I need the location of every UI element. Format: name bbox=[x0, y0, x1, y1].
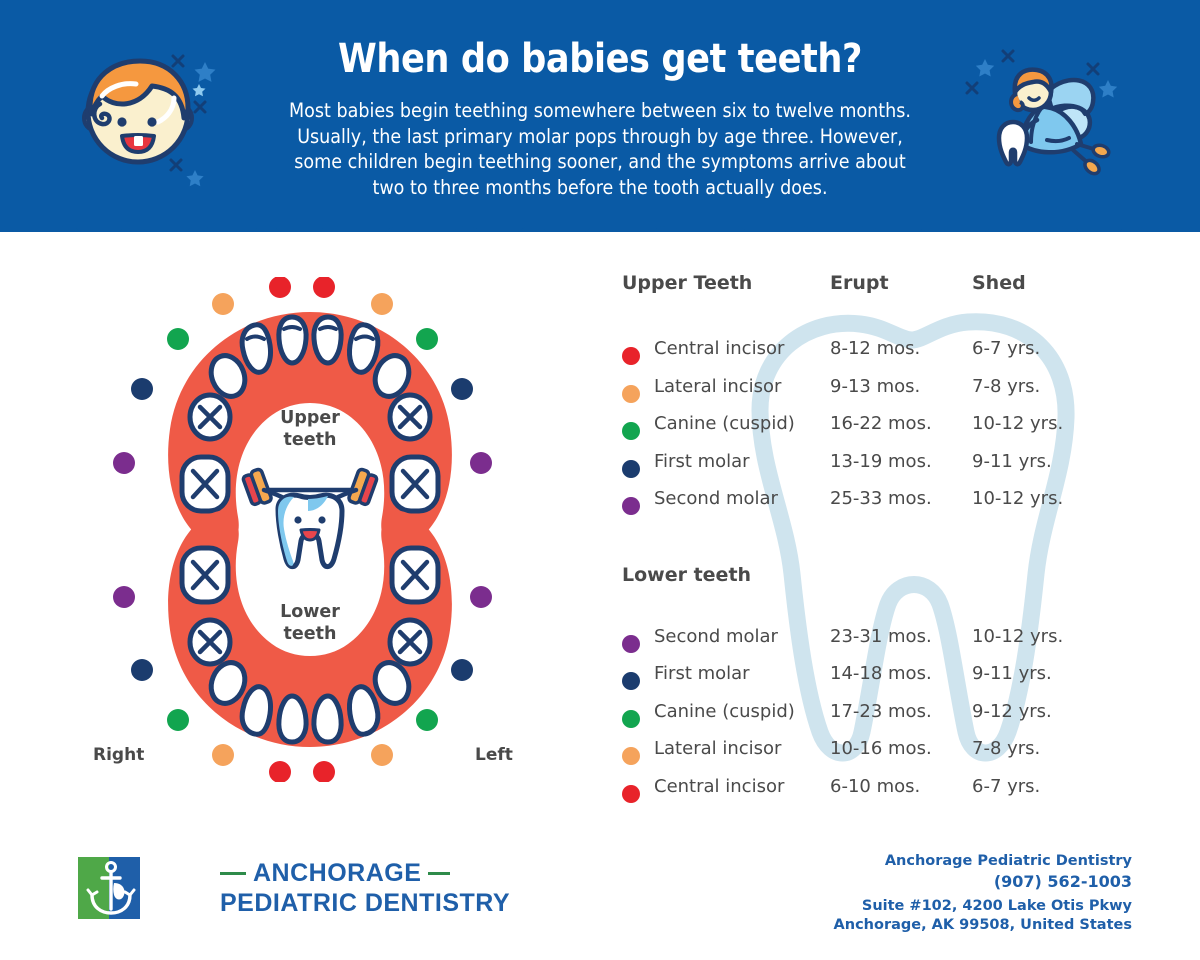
row-color-dot bbox=[622, 497, 640, 515]
lower-label-line1: Lower bbox=[250, 601, 370, 623]
dot-lower-canine-right bbox=[167, 709, 189, 731]
contact-address: Suite #102, 4200 Lake Otis Pkwy Anchorag… bbox=[712, 897, 1132, 935]
tooth-lower-lateral-left bbox=[349, 687, 377, 735]
contact-address-line2: Anchorage, AK 99508, United States bbox=[712, 916, 1132, 935]
logo-rule-right bbox=[428, 872, 450, 875]
table-row: First molar 14-18 mos. 9-11 yrs. bbox=[618, 663, 1178, 701]
contact-block: Anchorage Pediatric Dentistry (907) 562-… bbox=[712, 852, 1132, 935]
dot-lower-second-molar-right bbox=[113, 586, 135, 608]
upper-label-line2: teeth bbox=[250, 429, 370, 451]
tooth-name: Second molar bbox=[654, 488, 778, 509]
dot-lower-central-left bbox=[313, 761, 335, 782]
row-color-dot bbox=[622, 710, 640, 728]
infographic-page: When do babies get teeth? Most babies be… bbox=[0, 0, 1200, 960]
erupt-value: 25-33 mos. bbox=[830, 488, 932, 509]
row-color-dot bbox=[622, 347, 640, 365]
dot-upper-second-molar-right bbox=[113, 452, 135, 474]
tooth-upper-lateral-right bbox=[242, 325, 270, 373]
tooth-name: Central incisor bbox=[654, 338, 784, 359]
row-color-dot bbox=[622, 422, 640, 440]
dot-upper-lateral-right bbox=[212, 293, 234, 315]
table-row: Second molar 23-31 mos. 10-12 yrs. bbox=[618, 626, 1178, 664]
upper-label-line1: Upper bbox=[250, 407, 370, 429]
erupt-value: 16-22 mos. bbox=[830, 413, 932, 434]
tooth-name: First molar bbox=[654, 663, 750, 684]
dot-upper-second-molar-left bbox=[470, 452, 492, 474]
erupt-value: 13-19 mos. bbox=[830, 451, 932, 472]
shed-value: 10-12 yrs. bbox=[972, 488, 1063, 509]
dot-upper-first-molar-right bbox=[131, 378, 153, 400]
table-row: Second molar 25-33 mos. 10-12 yrs. bbox=[618, 488, 1178, 526]
eruption-table: Upper Teeth Erupt Shed Central incisor 8… bbox=[618, 272, 1178, 832]
table-row: First molar 13-19 mos. 9-11 yrs. bbox=[618, 451, 1178, 489]
shed-value: 10-12 yrs. bbox=[972, 626, 1063, 647]
logo-rule-left bbox=[220, 872, 246, 875]
dot-lower-first-molar-right bbox=[131, 659, 153, 681]
table-row: Lateral incisor 10-16 mos. 7-8 yrs. bbox=[618, 738, 1178, 776]
header-banner: When do babies get teeth? Most babies be… bbox=[0, 0, 1200, 232]
anchor-tooth-logo-icon bbox=[78, 857, 140, 919]
dot-lower-second-molar-left bbox=[470, 586, 492, 608]
subtitle-line: some children begin teething sooner, and… bbox=[276, 149, 924, 175]
shed-column-header: Shed bbox=[972, 272, 1026, 294]
tooth-lower-central-left bbox=[314, 696, 341, 742]
tooth-name: Lateral incisor bbox=[654, 376, 781, 397]
smiling-tooth-mascot-icon bbox=[242, 468, 379, 566]
table-row: Central incisor 6-10 mos. 6-7 yrs. bbox=[618, 776, 1178, 814]
table-header-lower: Lower teeth bbox=[618, 564, 1178, 604]
shed-value: 6-7 yrs. bbox=[972, 776, 1040, 797]
upper-teeth-label: Upper teeth bbox=[250, 407, 370, 451]
tooth-upper-central-left bbox=[314, 317, 341, 363]
row-color-dot bbox=[622, 672, 640, 690]
shed-value: 9-12 yrs. bbox=[972, 701, 1052, 722]
lower-teeth-header: Lower teeth bbox=[622, 564, 751, 586]
subtitle-line: two to three months before the tooth act… bbox=[276, 175, 924, 201]
table-row: Canine (cuspid) 16-22 mos. 10-12 yrs. bbox=[618, 413, 1178, 451]
subtitle-line: Usually, the last primary molar pops thr… bbox=[276, 124, 924, 150]
shed-value: 9-11 yrs. bbox=[972, 663, 1052, 684]
mouth-arches-svg bbox=[110, 277, 510, 782]
tooth-name: Canine (cuspid) bbox=[654, 413, 795, 434]
tooth-name: Lateral incisor bbox=[654, 738, 781, 759]
tooth-name: Central incisor bbox=[654, 776, 784, 797]
row-color-dot bbox=[622, 785, 640, 803]
contact-phone[interactable]: (907) 562-1003 bbox=[712, 871, 1132, 893]
logo-anchorage-text: ANCHORAGE bbox=[253, 859, 421, 888]
header-subtitle: Most babies begin teething somewhere bet… bbox=[276, 98, 924, 200]
row-color-dot bbox=[622, 747, 640, 765]
tooth-lower-lateral-right bbox=[242, 687, 270, 735]
upper-teeth-header: Upper Teeth bbox=[622, 272, 752, 294]
shed-value: 9-11 yrs. bbox=[972, 451, 1052, 472]
erupt-value: 6-10 mos. bbox=[830, 776, 920, 797]
dot-upper-canine-right bbox=[167, 328, 189, 350]
erupt-value: 10-16 mos. bbox=[830, 738, 932, 759]
lower-label-line2: teeth bbox=[250, 623, 370, 645]
dot-lower-lateral-left bbox=[371, 744, 393, 766]
tooth-name: First molar bbox=[654, 451, 750, 472]
shed-value: 6-7 yrs. bbox=[972, 338, 1040, 359]
table-row: Lateral incisor 9-13 mos. 7-8 yrs. bbox=[618, 376, 1178, 414]
dot-upper-central-right bbox=[269, 277, 291, 298]
contact-practice-name: Anchorage Pediatric Dentistry bbox=[712, 852, 1132, 871]
table-row: Canine (cuspid) 17-23 mos. 9-12 yrs. bbox=[618, 701, 1178, 739]
teeth-chart-diagram: Upper teeth Lower teeth bbox=[110, 277, 510, 782]
subtitle-line: Most babies begin teething somewhere bet… bbox=[276, 98, 924, 124]
tooth-name: Canine (cuspid) bbox=[654, 701, 795, 722]
row-color-dot bbox=[622, 460, 640, 478]
erupt-value: 23-31 mos. bbox=[830, 626, 932, 647]
erupt-value: 8-12 mos. bbox=[830, 338, 920, 359]
dot-lower-central-right bbox=[269, 761, 291, 782]
erupt-value: 17-23 mos. bbox=[830, 701, 932, 722]
shed-value: 10-12 yrs. bbox=[972, 413, 1063, 434]
contact-address-line1: Suite #102, 4200 Lake Otis Pkwy bbox=[712, 897, 1132, 916]
dot-lower-first-molar-left bbox=[451, 659, 473, 681]
tooth-lower-central-right bbox=[279, 696, 306, 742]
main-content: Upper teeth Lower teeth Right Left Upper… bbox=[0, 232, 1200, 960]
erupt-column-header: Erupt bbox=[830, 272, 889, 294]
shed-value: 7-8 yrs. bbox=[972, 738, 1040, 759]
table-header-upper: Upper Teeth Erupt Shed bbox=[618, 272, 1178, 312]
table-row: Central incisor 8-12 mos. 6-7 yrs. bbox=[618, 338, 1178, 376]
dot-upper-central-left bbox=[313, 277, 335, 298]
logo-line-1: ANCHORAGE bbox=[220, 859, 510, 888]
row-color-dot bbox=[622, 635, 640, 653]
practice-logo[interactable]: ANCHORAGE PEDIATRIC DENTISTRY bbox=[78, 855, 398, 925]
logo-wordmark: ANCHORAGE PEDIATRIC DENTISTRY bbox=[220, 859, 510, 918]
erupt-value: 9-13 mos. bbox=[830, 376, 920, 397]
shed-value: 7-8 yrs. bbox=[972, 376, 1040, 397]
dot-lower-lateral-right bbox=[212, 744, 234, 766]
row-color-dot bbox=[622, 385, 640, 403]
lower-teeth-label: Lower teeth bbox=[250, 601, 370, 645]
dot-upper-lateral-left bbox=[371, 293, 393, 315]
tooth-name: Second molar bbox=[654, 626, 778, 647]
tooth-upper-lateral-left bbox=[349, 325, 377, 373]
erupt-value: 14-18 mos. bbox=[830, 663, 932, 684]
tooth-fairy-icon bbox=[985, 52, 1115, 182]
dot-lower-canine-left bbox=[416, 709, 438, 731]
dot-upper-first-molar-left bbox=[451, 378, 473, 400]
tooth-upper-central-right bbox=[279, 317, 306, 363]
dot-upper-canine-left bbox=[416, 328, 438, 350]
right-side-label: Right bbox=[93, 745, 144, 765]
logo-line-2: PEDIATRIC DENTISTRY bbox=[220, 889, 510, 918]
left-side-label: Left bbox=[475, 745, 513, 765]
